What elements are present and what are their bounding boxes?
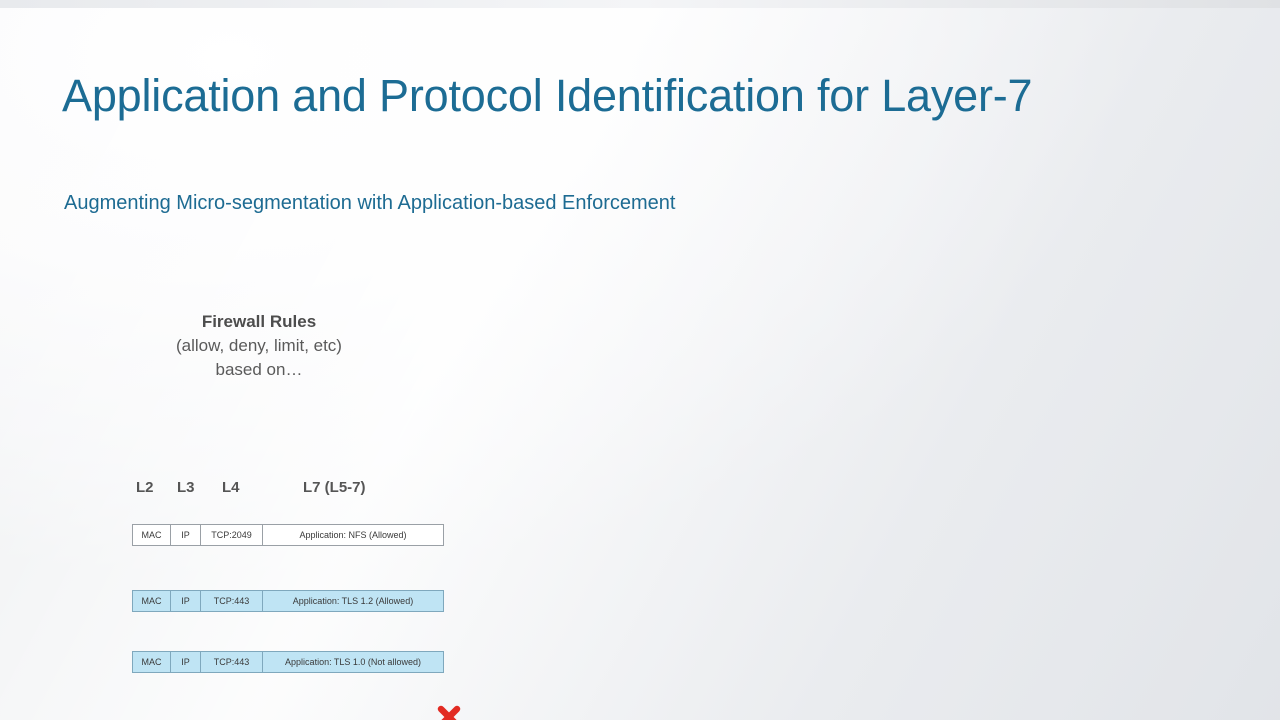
rule-cell-l7: Application: TLS 1.2 (Allowed)	[263, 591, 443, 611]
rule-cell-l7: Application: TLS 1.0 (Not allowed)	[263, 652, 443, 672]
firewall-rule-row: MAC IP TCP:443 Application: TLS 1.0 (Not…	[132, 651, 444, 673]
firewall-rules-subtitle-2: based on…	[128, 358, 390, 382]
layer-label-l7: L7 (L5-7)	[303, 479, 366, 496]
rule-cell-l2: MAC	[133, 591, 171, 611]
firewall-rules-subtitle-1: (allow, deny, limit, etc)	[128, 334, 390, 358]
layer-label-l4: L4	[222, 479, 240, 496]
rule-cell-l3: IP	[171, 525, 201, 545]
presentation-slide: Application and Protocol Identification …	[0, 0, 1280, 720]
slide-top-edge	[0, 0, 1280, 8]
page-title: Application and Protocol Identification …	[62, 70, 1182, 122]
rule-cell-l3: IP	[171, 591, 201, 611]
rule-cell-l3: IP	[171, 652, 201, 672]
rule-cell-l2: MAC	[133, 525, 171, 545]
rule-cell-l7: Application: NFS (Allowed)	[263, 525, 443, 545]
red-x-icon	[436, 704, 462, 720]
rule-cell-l4: TCP:443	[201, 591, 263, 611]
rule-cell-l4: TCP:2049	[201, 525, 263, 545]
layer-column-labels: L2 L3 L4 L7 (L5-7)	[130, 479, 460, 499]
firewall-rules-heading: Firewall Rules (allow, deny, limit, etc)…	[128, 310, 390, 382]
page-subtitle: Augmenting Micro-segmentation with Appli…	[64, 190, 964, 216]
firewall-rule-row: MAC IP TCP:443 Application: TLS 1.2 (All…	[132, 590, 444, 612]
rule-cell-l4: TCP:443	[201, 652, 263, 672]
layer-label-l2: L2	[136, 479, 154, 496]
firewall-rules-title: Firewall Rules	[128, 310, 390, 334]
rule-cell-l2: MAC	[133, 652, 171, 672]
layer-label-l3: L3	[177, 479, 195, 496]
firewall-rule-row: MAC IP TCP:2049 Application: NFS (Allowe…	[132, 524, 444, 546]
